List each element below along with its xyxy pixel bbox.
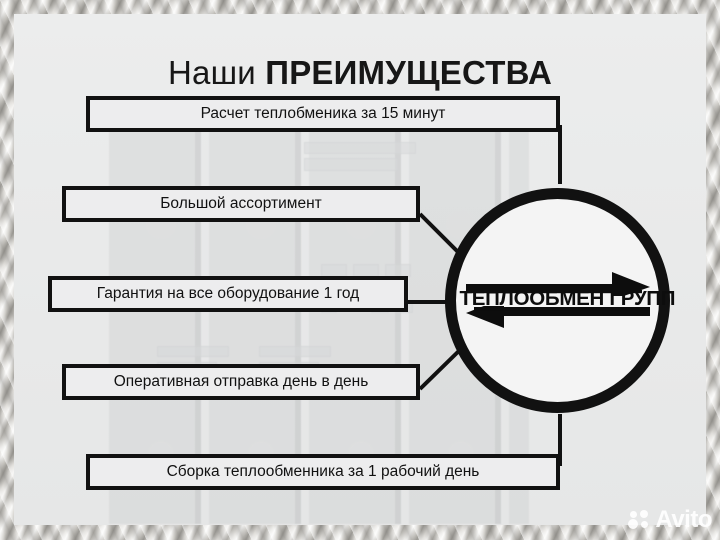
- company-logo-badge[interactable]: ТЕПЛООБМЕН ГРУПП: [445, 188, 670, 413]
- logo-text: ТЕПЛООБМЕН ГРУПП: [460, 287, 656, 311]
- feature-box-3[interactable]: Гарантия на все оборудование 1 год: [48, 276, 408, 312]
- avito-watermark: Avito: [628, 508, 712, 532]
- feature-box-1[interactable]: Расчет теплобменика за 15 минут: [86, 96, 560, 132]
- logo-mark: ТЕПЛООБМЕН ГРУПП: [460, 270, 656, 332]
- feature-box-2[interactable]: Большой ассортимент: [62, 186, 420, 222]
- feature-label-4: Оперативная отправка день в день: [114, 373, 369, 391]
- feature-box-5[interactable]: Сборка теплообменника за 1 рабочий день: [86, 454, 560, 490]
- promo-banner: Наши ПРЕИМУЩЕСТВА Расчет теплобменика за…: [0, 0, 720, 540]
- feature-label-3: Гарантия на все оборудование 1 год: [97, 285, 359, 303]
- content-panel: Наши ПРЕИМУЩЕСТВА Расчет теплобменика за…: [14, 14, 706, 525]
- feature-box-4[interactable]: Оперативная отправка день в день: [62, 364, 420, 400]
- avito-wordmark: Avito: [655, 508, 712, 532]
- feature-label-1: Расчет теплобменика за 15 минут: [201, 105, 446, 123]
- avito-logo-icon: [628, 510, 651, 530]
- feature-label-2: Большой ассортимент: [160, 195, 321, 213]
- feature-label-5: Сборка теплообменника за 1 рабочий день: [167, 463, 480, 481]
